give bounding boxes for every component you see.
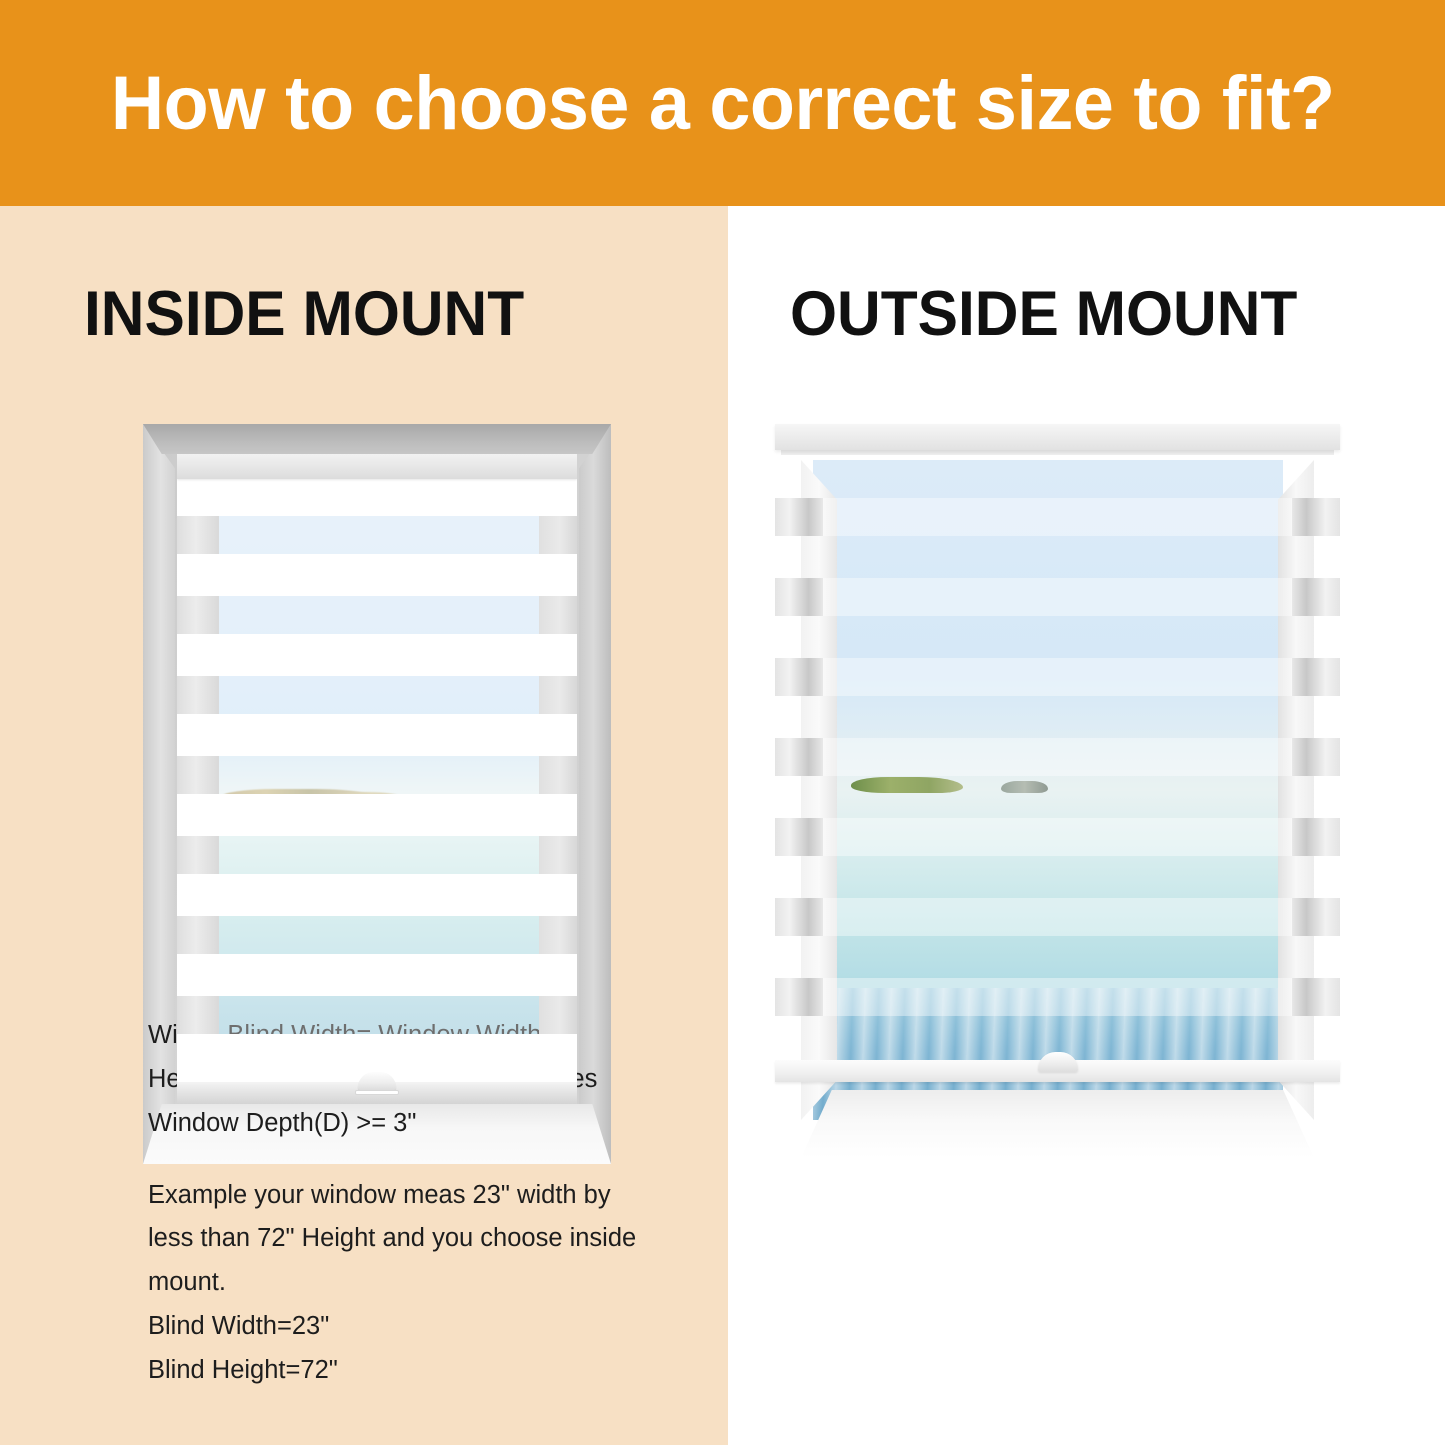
inside-mount-window-illustration [143, 424, 611, 1164]
blind-band-endcap-left [775, 658, 823, 696]
inside-mount-example: Example your window meas 23" width by le… [148, 1174, 693, 1393]
blind-band-endcap-left [177, 996, 219, 1034]
scenery-island [851, 777, 964, 793]
blind-opaque-slat [177, 714, 577, 756]
blind-sheer-band [775, 738, 1340, 776]
scenery-rock [1001, 781, 1048, 794]
blind-sheer-band [775, 578, 1340, 616]
blind-band-endcap-left [177, 836, 219, 874]
blind-band-endcap-right [539, 676, 577, 714]
page-title: How to choose a correct size to fit? [111, 60, 1335, 147]
heading-outside-mount: OUTSIDE MOUNT [790, 278, 1297, 350]
blind-band-endcap-right [539, 756, 577, 794]
blind-band-sheer [823, 978, 1292, 1016]
blind-opaque-slat [177, 554, 577, 596]
blind-band-endcap-right [1292, 738, 1340, 776]
blind-sheer-band [177, 596, 577, 634]
blind-band-endcap-right [1292, 498, 1340, 536]
blind-sheer-band [177, 836, 577, 874]
blind-opaque-slat [177, 874, 577, 916]
panel-outside-mount: OUTSIDE MOUNT [728, 206, 1445, 1445]
window-jamb-left [801, 460, 837, 1120]
blind-band-endcap-right [1292, 578, 1340, 616]
blind-sheer-band [177, 756, 577, 794]
blind-sheer-band [177, 516, 577, 554]
blind-band-endcap-right [539, 836, 577, 874]
blind-band-endcap-right [1292, 898, 1340, 936]
window-head-reveal [143, 424, 611, 454]
blind-sheer-band [775, 978, 1340, 1016]
blind-band-endcap-left [775, 898, 823, 936]
blind-band-endcap-right [539, 996, 577, 1034]
blind-handle-slot [355, 1090, 399, 1095]
blind-band-sheer [823, 658, 1292, 696]
blind-headrail[interactable] [177, 454, 577, 479]
blind-sheer-band [177, 996, 577, 1034]
blind-band-sheer [823, 738, 1292, 776]
blind-band-endcap-right [1292, 658, 1340, 696]
blind-band-endcap-left [775, 738, 823, 776]
blind-headrail[interactable] [775, 424, 1340, 450]
blind-band-endcap-right [539, 916, 577, 954]
blind-sheer-band [177, 676, 577, 714]
window-sill [801, 1090, 1314, 1158]
example-line: Blind Height=72" [148, 1349, 693, 1393]
blind-sheer-band [775, 818, 1340, 856]
example-line: Example your window meas 23" width by [148, 1174, 693, 1218]
spec-line: Window Depth(D) >= 3" [148, 1102, 693, 1146]
blind-band-endcap-left [177, 596, 219, 634]
blind-opaque-slat [177, 479, 577, 516]
blind-band-endcap-left [177, 516, 219, 554]
blind-band-endcap-left [775, 498, 823, 536]
blind-sheer-band [775, 898, 1340, 936]
blind-band-endcap-right [539, 516, 577, 554]
blind-band-endcap-left [177, 916, 219, 954]
blind-band-sheer [823, 498, 1292, 536]
window-jamb-right [1278, 460, 1314, 1120]
blind-sheer-band [775, 658, 1340, 696]
blind-band-endcap-left [775, 978, 823, 1016]
blind-opaque-slat [177, 794, 577, 836]
blind-band-sheer [823, 818, 1292, 856]
blind-opaque-slat [177, 634, 577, 676]
blind-pull-handle[interactable] [358, 1072, 396, 1090]
page-header-banner: How to choose a correct size to fit? [0, 0, 1445, 206]
blind-band-endcap-left [177, 756, 219, 794]
panel-inside-mount: INSIDE MOUNT [0, 206, 728, 1445]
blind-band-sheer [823, 898, 1292, 936]
blind-band-sheer [823, 578, 1292, 616]
blind-sheer-band [177, 916, 577, 954]
heading-inside-mount: INSIDE MOUNT [84, 278, 524, 350]
blind-band-endcap-left [177, 676, 219, 714]
blind-band-endcap-right [1292, 818, 1340, 856]
blind-opaque-slat [177, 954, 577, 996]
outside-mount-window-illustration [775, 424, 1340, 1164]
comparison-panels: INSIDE MOUNT [0, 206, 1445, 1445]
example-line: mount. [148, 1261, 693, 1305]
blind-band-endcap-right [1292, 978, 1340, 1016]
blind-band-endcap-left [775, 818, 823, 856]
blind-band-endcap-left [775, 578, 823, 616]
blind-band-endcap-right [539, 596, 577, 634]
blind-sheer-band [775, 498, 1340, 536]
example-line: less than 72" Height and you choose insi… [148, 1217, 693, 1261]
window-opening-outside [813, 460, 1283, 1120]
window-opening-inside [177, 454, 577, 1104]
example-line: Blind Width=23" [148, 1305, 693, 1349]
